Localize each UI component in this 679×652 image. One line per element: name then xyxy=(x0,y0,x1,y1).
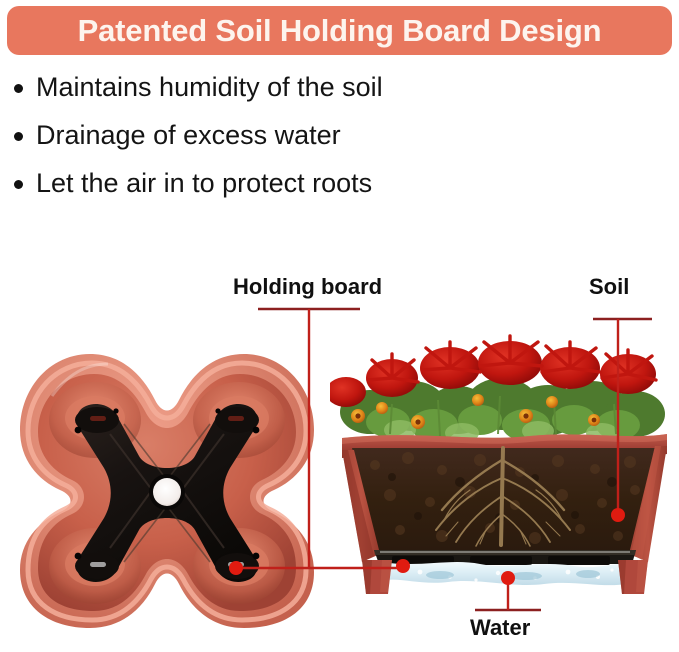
callout-label-holding-board: Holding board xyxy=(233,274,382,300)
list-item: Drainage of excess water xyxy=(14,118,654,166)
callout-label-water: Water xyxy=(470,615,530,641)
soil-body xyxy=(352,448,657,552)
callout-label-soil: Soil xyxy=(589,274,629,300)
holding-board-cross-section xyxy=(374,550,636,565)
list-item: Maintains humidity of the soil xyxy=(14,70,654,118)
feature-text: Drainage of excess water xyxy=(36,118,341,152)
list-item: Let the air in to protect roots xyxy=(14,166,654,214)
infographic-root: Patented Soil Holding Board Design Maint… xyxy=(0,0,679,652)
page-title: Patented Soil Holding Board Design xyxy=(78,15,602,46)
bullet-dot-icon xyxy=(14,84,23,93)
feature-text: Let the air in to protect roots xyxy=(36,166,372,200)
feature-list: Maintains humidity of the soil Drainage … xyxy=(14,70,654,214)
top-view-planter-illustration xyxy=(12,348,322,633)
bullet-dot-icon xyxy=(14,132,23,141)
cross-section-planter-illustration xyxy=(330,330,679,615)
header-banner: Patented Soil Holding Board Design xyxy=(7,6,672,55)
bullet-dot-icon xyxy=(14,180,23,189)
center-drain-hole xyxy=(153,478,181,506)
water-reservoir xyxy=(382,562,630,585)
feature-text: Maintains humidity of the soil xyxy=(36,70,383,104)
